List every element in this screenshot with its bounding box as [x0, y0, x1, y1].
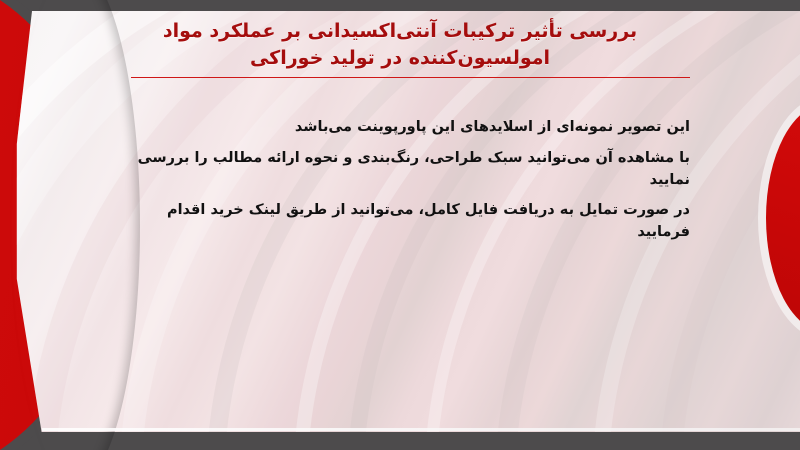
slide-title-block: بررسی تأثیر ترکیبات آنتی‌اکسیدانی بر عمل…: [110, 18, 690, 72]
title-underline-rule: [131, 77, 690, 78]
body-line-1: این تصویر نمونه‌ای از اسلایدهای این پاور…: [110, 117, 690, 139]
slide-canvas: بررسی تأثیر ترکیبات آنتی‌اکسیدانی بر عمل…: [0, 0, 800, 450]
body-line-3: در صورت تمایل به دریافت فایل کامل، می‌تو…: [110, 200, 690, 244]
panel-bottom-highlight: [42, 428, 800, 431]
slide-title: بررسی تأثیر ترکیبات آنتی‌اکسیدانی بر عمل…: [110, 18, 690, 72]
slide-body-block: این تصویر نمونه‌ای از اسلایدهای این پاور…: [110, 117, 690, 244]
body-line-2: با مشاهده آن می‌توانید سبک طراحی، رنگ‌بن…: [110, 148, 690, 192]
